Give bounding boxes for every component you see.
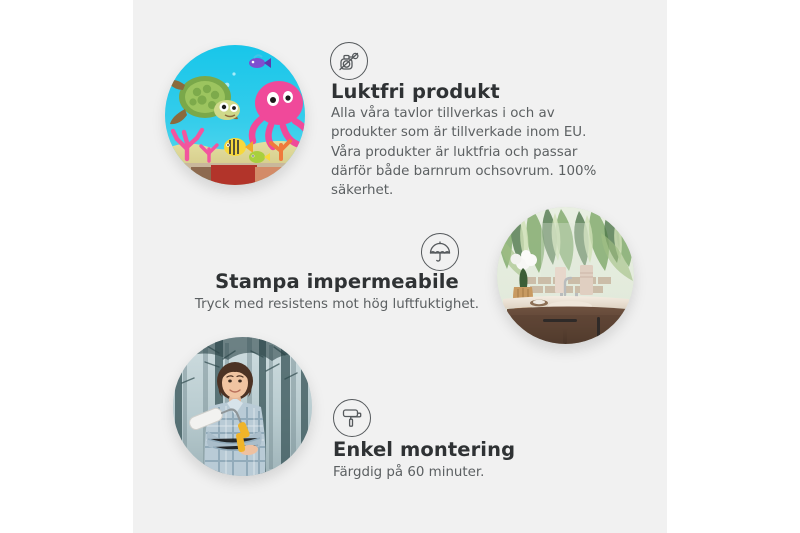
bathroom-tropical-wallpaper-photo [497, 207, 634, 344]
promo-banner: Luktfri produkt Alla våra tavlor tillver… [0, 0, 800, 533]
feature-body: Tryck med resistens mot hög luftfuktighe… [177, 295, 497, 314]
feature-title: Stampa impermeabile [197, 270, 477, 293]
feature-body: Alla våra tavlor tillverkas i och av pro… [331, 104, 619, 200]
feature-title: Luktfri produkt [331, 80, 500, 103]
feature-body: Färgdig på 60 minuter. [333, 463, 593, 482]
umbrella-icon [421, 233, 459, 271]
underwater-cartoon-mural-photo [165, 45, 305, 185]
woman-paint-roller-forest-photo [173, 337, 312, 476]
feature-title: Enkel montering [333, 438, 515, 461]
no-fragrance-icon [330, 42, 368, 80]
paint-roller-icon [333, 399, 371, 437]
